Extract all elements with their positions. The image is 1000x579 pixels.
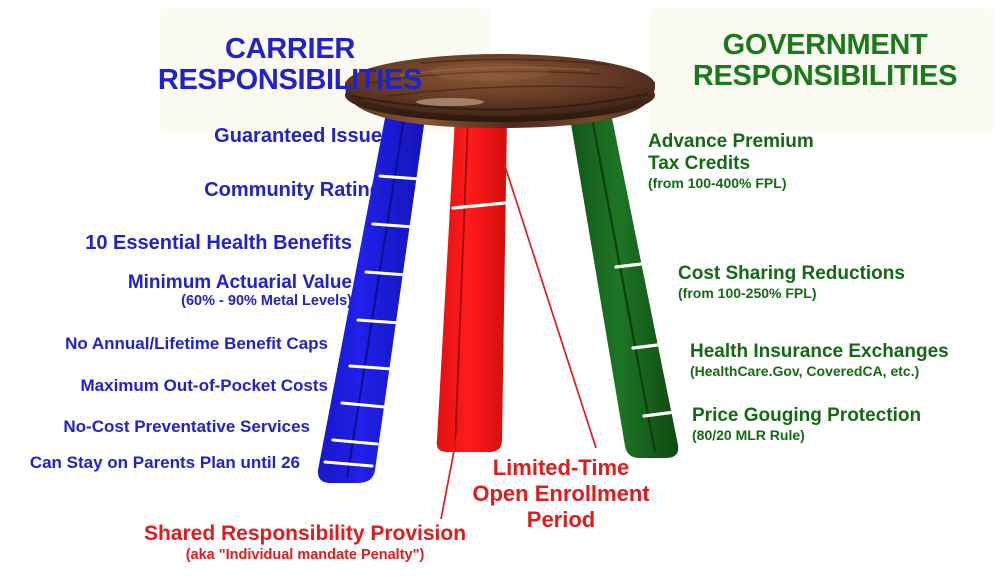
page-title-carrier: CARRIER RESPONSIBILITIES <box>140 34 440 96</box>
government-item-price-gouging-protection: Price Gouging Protection (80/20 MLR Rule… <box>692 405 921 443</box>
carrier-item-no-benefit-caps: No Annual/Lifetime Benefit Caps <box>65 333 328 354</box>
carrier-item-parents-plan-until-26: Can Stay on Parents Plan until 26 <box>30 452 300 473</box>
leader-line-open-enrollment <box>504 163 596 448</box>
carrier-item-label: No-Cost Preventative Services <box>63 416 310 437</box>
carrier-item-label: 10 Essential Health Benefits <box>85 233 352 254</box>
individual-leg <box>437 118 507 452</box>
government-item-sublabel: (80/20 MLR Rule) <box>692 427 921 443</box>
carrier-item-label: No Annual/Lifetime Benefit Caps <box>65 333 328 354</box>
government-item-label: Health Insurance Exchanges <box>690 341 949 363</box>
individual-item-sublabel: (aka "Individual mandate Penalty") <box>130 546 480 564</box>
individual-item-label: Shared Responsibility Provision <box>130 521 480 546</box>
government-item-label: Cost Sharing Reductions <box>678 263 905 285</box>
carrier-item-max-out-of-pocket: Maximum Out-of-Pocket Costs <box>81 375 328 396</box>
carrier-item-guaranteed-issue: Guaranteed Issue <box>214 126 382 147</box>
infographic-canvas: CARRIER RESPONSIBILITIES GOVERNMENT RESP… <box>0 0 1000 579</box>
carrier-item-preventative-services: No-Cost Preventative Services <box>63 416 310 437</box>
carrier-item-sublabel: (60% - 90% Metal Levels) <box>128 293 352 310</box>
government-item-sublabel: (from 100-250% FPL) <box>678 285 905 301</box>
carrier-item-label: Community Rating <box>204 180 382 201</box>
page-title-government: GOVERNMENT RESPONSIBILITIES <box>660 30 990 92</box>
carrier-item-community-rating: Community Rating <box>204 180 382 201</box>
carrier-item-label: Minimum Actuarial Value <box>128 272 352 293</box>
carrier-item-minimum-actuarial-value: Minimum Actuarial Value (60% - 90% Metal… <box>128 272 352 310</box>
government-item-advance-premium-tax-credits: Advance Premium Tax Credits (from 100-40… <box>648 131 814 191</box>
government-item-sublabel: (from 100-400% FPL) <box>648 175 814 191</box>
individual-item-label: Limited-Time Open Enrollment Period <box>470 455 652 533</box>
carrier-item-essential-health-benefits: 10 Essential Health Benefits <box>85 233 352 254</box>
government-item-label: Advance Premium Tax Credits <box>648 131 814 175</box>
carrier-item-label: Maximum Out-of-Pocket Costs <box>81 375 328 396</box>
individual-item-open-enrollment-period: Limited-Time Open Enrollment Period <box>470 455 652 533</box>
individual-item-shared-responsibility-provision: Shared Responsibility Provision (aka "In… <box>130 521 480 564</box>
government-item-label: Price Gouging Protection <box>692 405 921 427</box>
carrier-item-label: Can Stay on Parents Plan until 26 <box>30 452 300 473</box>
government-item-health-insurance-exchanges: Health Insurance Exchanges (HealthCare.G… <box>690 341 949 379</box>
government-item-cost-sharing-reductions: Cost Sharing Reductions (from 100-250% F… <box>678 263 905 301</box>
government-item-sublabel: (HealthCare.Gov, CoveredCA, etc.) <box>690 363 949 379</box>
carrier-item-label: Guaranteed Issue <box>214 126 382 147</box>
